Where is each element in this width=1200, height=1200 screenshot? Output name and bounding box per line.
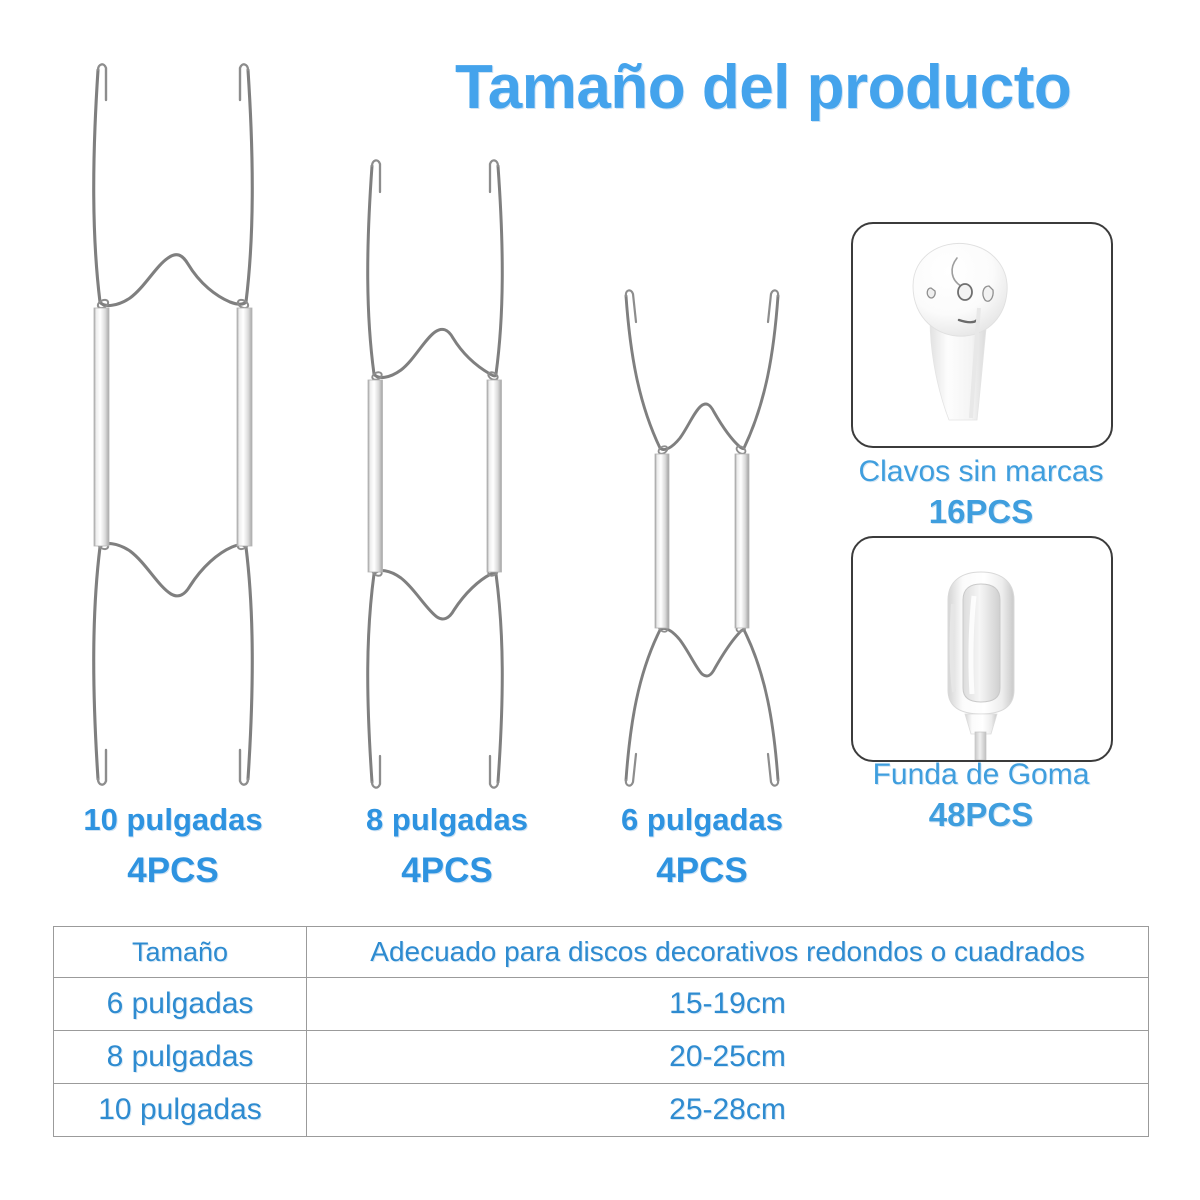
table-row: 8 pulgadas 20-25cm [54, 1031, 1149, 1084]
part-label: Funda de Goma [816, 758, 1146, 793]
plastic-nail-caption: Clavos sin marcas 16PCS [816, 455, 1146, 530]
page-title: Tamaño del producto [455, 52, 1155, 123]
part-count-label: 16PCS [816, 494, 1146, 530]
hanger-8-inch-illustration [340, 150, 530, 798]
hanger-caption-6-inch: 6 pulgadas 4PCS [577, 802, 827, 890]
hanger-size-label: 6 pulgadas [577, 802, 827, 838]
hanger-10-inch-illustration [58, 52, 288, 797]
hanger-caption-10-inch: 10 pulgadas 4PCS [48, 802, 298, 890]
table-cell-range: 15-19cm [307, 978, 1149, 1031]
hanger-caption-8-inch: 8 pulgadas 4PCS [322, 802, 572, 890]
table-cell-size: 6 pulgadas [54, 978, 307, 1031]
table-row: 6 pulgadas 15-19cm [54, 978, 1149, 1031]
rubber-sleeve-photo-box [851, 536, 1113, 762]
table-row: 10 pulgadas 25-28cm [54, 1084, 1149, 1137]
part-count-label: 48PCS [816, 797, 1146, 833]
hanger-count-label: 4PCS [577, 852, 827, 891]
table-header-row: Tamaño Adecuado para discos decorativos … [54, 927, 1149, 978]
rubber-sleeve-caption: Funda de Goma 48PCS [816, 758, 1146, 833]
hanger-size-label: 10 pulgadas [48, 802, 298, 838]
table-cell-size: 8 pulgadas [54, 1031, 307, 1084]
table-cell-size: 10 pulgadas [54, 1084, 307, 1137]
hanger-count-label: 4PCS [322, 852, 572, 891]
table-header-description: Adecuado para discos decorativos redondo… [307, 927, 1149, 978]
part-label: Clavos sin marcas [816, 455, 1146, 490]
hanger-size-label: 8 pulgadas [322, 802, 572, 838]
plastic-nail-photo-box [851, 222, 1113, 448]
size-spec-table: Tamaño Adecuado para discos decorativos … [53, 926, 1149, 1137]
table-cell-range: 25-28cm [307, 1084, 1149, 1137]
table-cell-range: 20-25cm [307, 1031, 1149, 1084]
table-header-size: Tamaño [54, 927, 307, 978]
hanger-6-inch-illustration [612, 282, 792, 794]
hanger-count-label: 4PCS [48, 852, 298, 891]
